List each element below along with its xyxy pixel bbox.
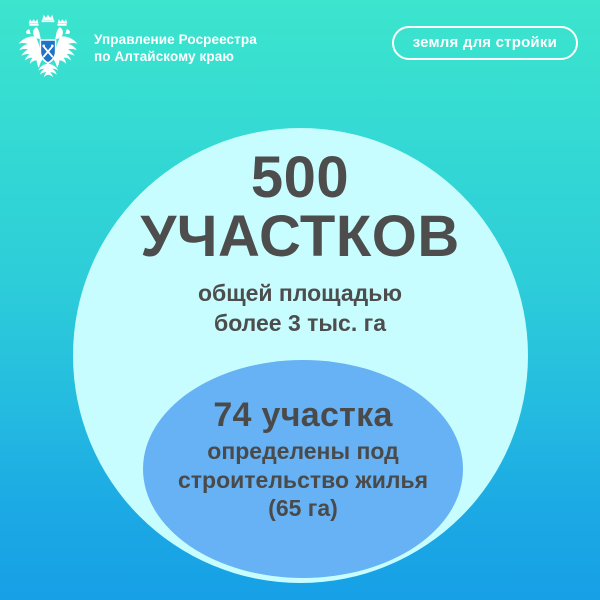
inner-stat-number: 74 участка <box>143 396 463 434</box>
rosreestr-eagle-emblem-icon <box>12 12 84 84</box>
main-statistic-block: 500 УЧАСТКОВ общей площадью более 3 тыс.… <box>0 148 600 339</box>
organization-name: Управление Росреестра по Алтайскому краю <box>94 31 257 65</box>
main-stat-number: 500 <box>0 148 600 208</box>
brand-header: Управление Росреестра по Алтайскому краю <box>12 12 257 84</box>
inner-statistic-block: 74 участка определены под строительство … <box>143 396 463 523</box>
infographic-poster: Управление Росреестра по Алтайскому краю… <box>0 0 600 600</box>
campaign-badge[interactable]: земля для стройки <box>392 26 578 60</box>
main-stat-word: УЧАСТКОВ <box>0 206 600 267</box>
inner-stat-subtitle: определены под строительство жилья (65 г… <box>143 437 463 523</box>
main-stat-subtitle: общей площадью более 3 тыс. га <box>0 278 600 339</box>
